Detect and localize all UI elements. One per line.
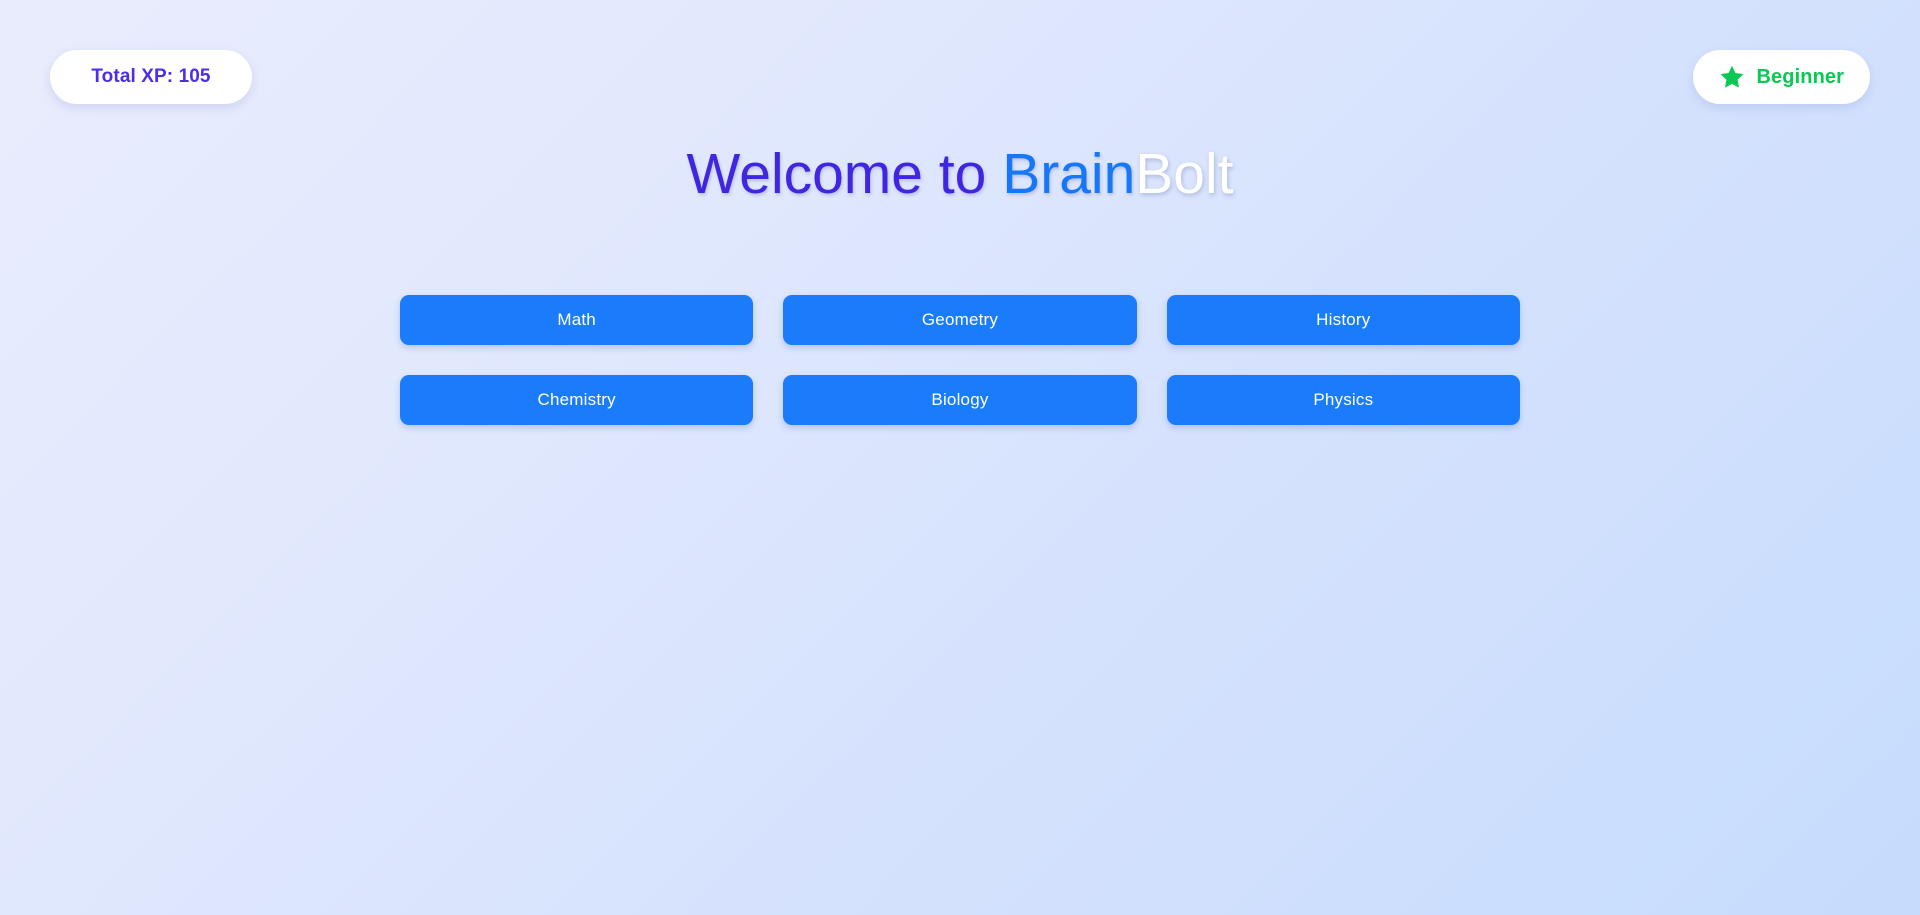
total-xp-badge: Total XP: 105 (50, 50, 252, 104)
subject-button-math[interactable]: Math (400, 295, 753, 345)
subject-button-chemistry[interactable]: Chemistry (400, 375, 753, 425)
total-xp-label: Total XP: 105 (91, 66, 210, 88)
subject-button-biology[interactable]: Biology (783, 375, 1136, 425)
subject-button-physics[interactable]: Physics (1167, 375, 1520, 425)
page-title: Welcome to BrainBolt (0, 143, 1920, 206)
subject-button-geometry[interactable]: Geometry (783, 295, 1136, 345)
subject-button-history[interactable]: History (1167, 295, 1520, 345)
title-bolt-text: Bolt (1135, 142, 1233, 206)
title-welcome-text: Welcome to (686, 142, 1002, 206)
title-brain-text: Brain (1002, 142, 1135, 206)
level-label: Beginner (1757, 66, 1844, 89)
level-badge: Beginner (1693, 50, 1870, 104)
subject-grid: Math Geometry History Chemistry Biology … (400, 295, 1520, 425)
star-icon (1719, 64, 1745, 90)
